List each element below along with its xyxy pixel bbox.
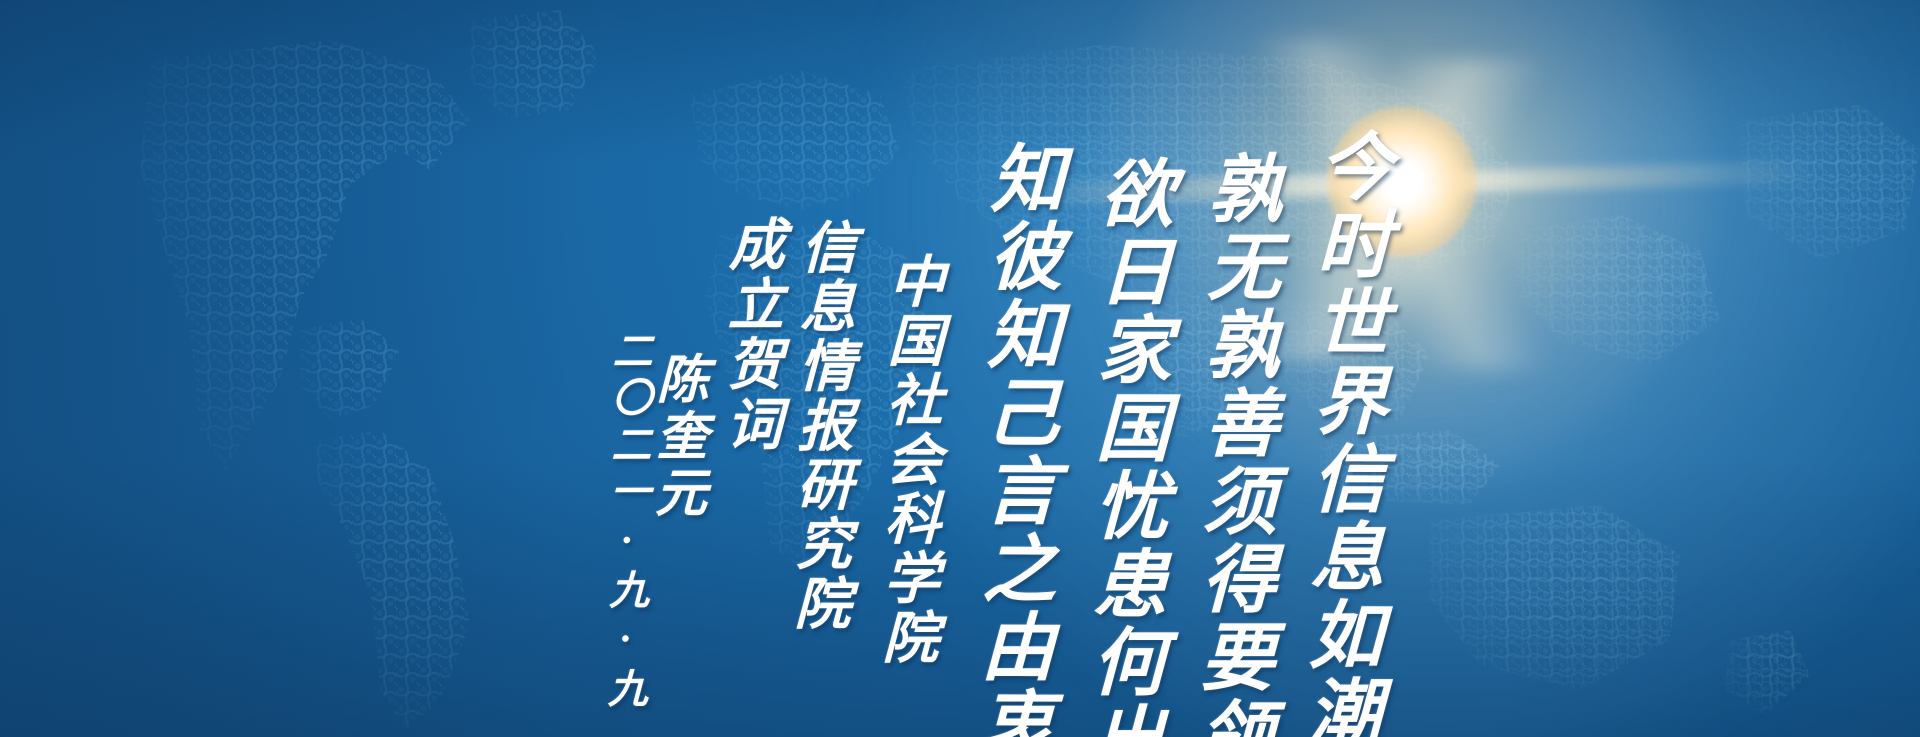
occasion-label: 成立贺词	[708, 215, 793, 455]
calligraphy-banner: 今时世界信息如潮 孰无孰善须得要领 欲日家国忧患何出 知彼知己言之由衷 中国社会…	[0, 0, 1920, 737]
date-text: 二〇二一·九·九	[595, 330, 658, 715]
calligraphy-line-1: 今时世界信息如潮	[1283, 128, 1403, 737]
calligraphy-line-3: 欲日家国忧患何出	[1066, 155, 1185, 737]
calligraphy-text-block: 今时世界信息如潮 孰无孰善须得要领 欲日家国忧患何出 知彼知己言之由衷 中国社会…	[0, 0, 1920, 737]
calligraphy-line-2: 孰无孰善须得要领	[1175, 150, 1293, 737]
organization-line-1: 中国社会科学院	[865, 252, 953, 667]
calligraphy-line-4: 知彼知己言之由衷	[955, 140, 1075, 737]
